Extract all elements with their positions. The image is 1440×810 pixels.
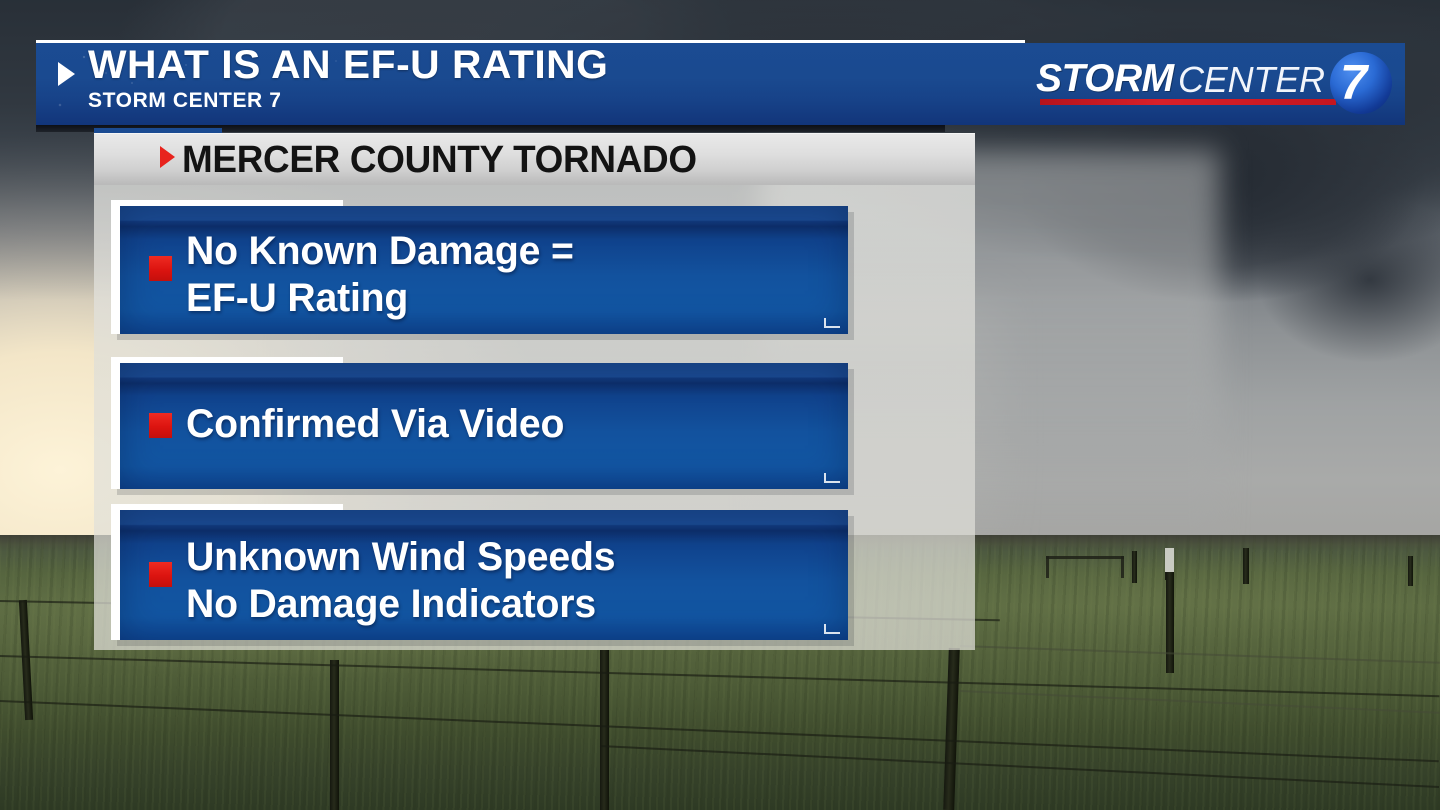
fence-post-cap [1165, 548, 1174, 572]
play-triangle-icon [58, 62, 75, 86]
panel-corner-bracket-icon [824, 473, 840, 483]
red-square-bullet-icon [149, 413, 172, 438]
bullet-panel-3: Unknown Wind Speeds No Damage Indicators [111, 510, 848, 640]
fence-post-main [1166, 555, 1174, 673]
logo-channel-number: 7 [1340, 54, 1367, 112]
logo-center-text: CENTER [1178, 60, 1325, 100]
subtitle-bar: MERCER COUNTY TORNADO [94, 133, 975, 185]
stormcenter7-logo: STORM CENTER 7 [1036, 52, 1396, 114]
bullet-line-1: Unknown Wind Speeds [186, 534, 615, 581]
panel-left-white-accent [111, 206, 120, 334]
bullet-panel-2: Confirmed Via Video [111, 363, 848, 489]
red-square-bullet-icon [149, 562, 172, 587]
logo-storm-text: STORM [1036, 58, 1174, 100]
broadcast-graphic-stage: WHAT IS AN EF-U RATING STORM CENTER 7 ST… [0, 0, 1440, 810]
fence-post-right [1408, 556, 1413, 586]
red-square-bullet-icon [149, 256, 172, 281]
bullet-line-1: No Known Damage = [186, 228, 574, 275]
panel-left-white-accent [111, 510, 120, 640]
bullet-panel-1-text: No Known Damage = EF-U Rating [186, 228, 574, 322]
fence-post-2 [1243, 548, 1249, 584]
bullet-line-2: EF-U Rating [186, 275, 574, 322]
fence-post-1 [1132, 551, 1137, 583]
panel-corner-bracket-icon [824, 624, 840, 634]
red-play-triangle-icon [160, 146, 175, 168]
page-title: WHAT IS AN EF-U RATING [88, 44, 608, 86]
distant-gate-right [1121, 556, 1124, 578]
bullet-panel-3-text: Unknown Wind Speeds No Damage Indicators [186, 534, 615, 628]
logo-channel-badge: 7 [1330, 50, 1400, 116]
panel-corner-bracket-icon [824, 318, 840, 328]
fence-post-mid-left [330, 660, 339, 810]
bullet-line-1: Confirmed Via Video [186, 401, 564, 448]
bullet-panel-2-text: Confirmed Via Video [186, 401, 564, 448]
subtitle-bar-text: MERCER COUNTY TORNADO [182, 136, 697, 184]
bullet-panel-1: No Known Damage = EF-U Rating [111, 206, 848, 334]
bullet-line-2: No Damage Indicators [186, 581, 615, 628]
page-subtitle: STORM CENTER 7 [88, 90, 282, 112]
distant-gate-left [1046, 556, 1049, 578]
distant-gate-top [1046, 556, 1124, 559]
panel-left-white-accent [111, 363, 120, 489]
